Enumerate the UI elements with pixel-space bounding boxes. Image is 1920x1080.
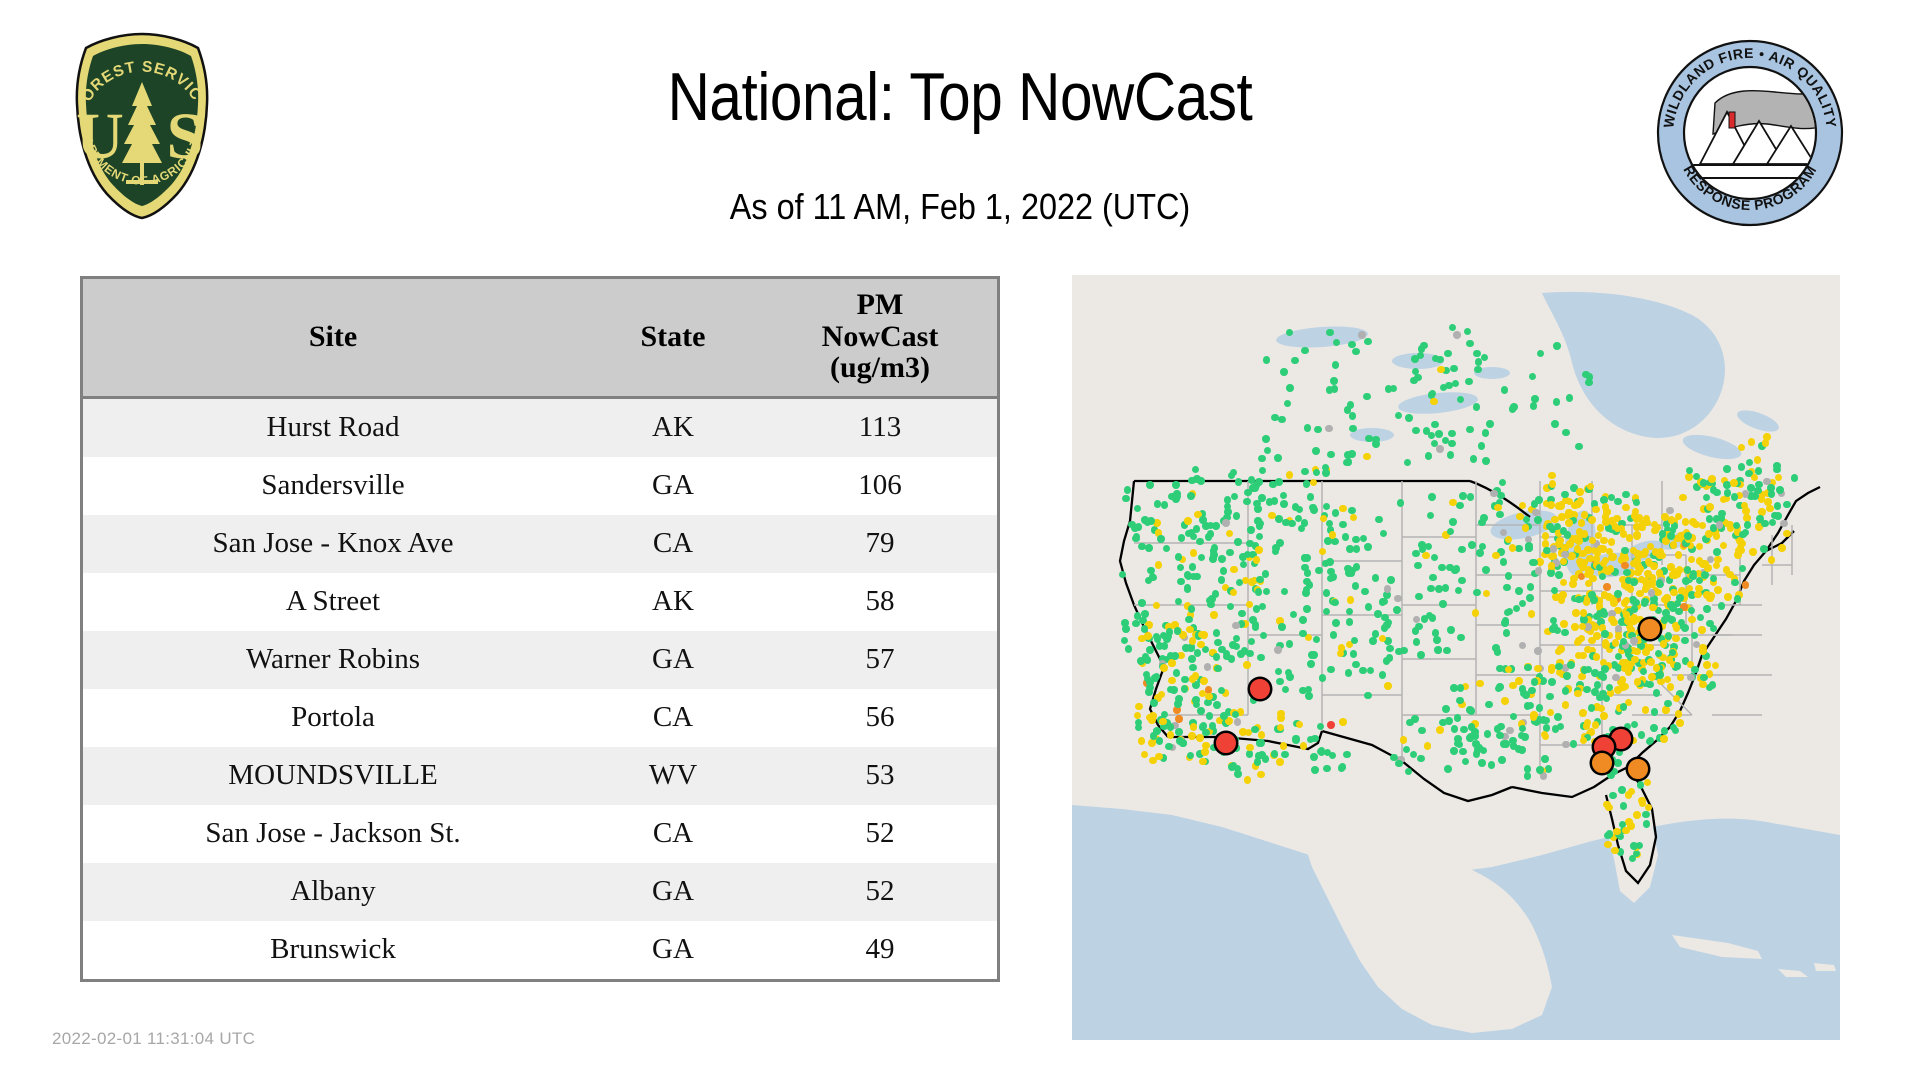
aqi-monitor-dot bbox=[1580, 609, 1588, 617]
aqi-monitor-dot bbox=[1246, 540, 1254, 548]
aqi-monitor-dot bbox=[1526, 594, 1534, 602]
aqi-monitor-dot bbox=[1209, 722, 1217, 730]
aqi-monitor-dot bbox=[1524, 664, 1532, 672]
aqi-monitor-dot bbox=[1332, 509, 1340, 517]
aqi-monitor-dot bbox=[1580, 737, 1588, 745]
aqi-monitor-dot bbox=[1168, 660, 1176, 668]
aqi-monitor-dot bbox=[1497, 723, 1505, 731]
aqi-monitor-dot bbox=[1703, 605, 1711, 613]
aqi-monitor-dot bbox=[1555, 663, 1563, 671]
aqi-monitor-dot bbox=[1122, 495, 1130, 503]
aqi-monitor-dot bbox=[1239, 728, 1247, 736]
highlighted-site-marker[interactable] bbox=[1626, 757, 1650, 781]
aqi-monitor-dot bbox=[1433, 636, 1441, 644]
aqi-monitor-dot bbox=[1308, 651, 1316, 659]
aqi-monitor-dot bbox=[1251, 726, 1259, 734]
table-row: A StreetAK58 bbox=[83, 573, 997, 631]
aqi-monitor-dot bbox=[1174, 627, 1182, 635]
cell-value: 58 bbox=[763, 573, 997, 631]
aqi-monitor-dot bbox=[1428, 493, 1436, 501]
aqi-monitor-dot bbox=[1172, 481, 1180, 489]
aqi-monitor-dot bbox=[1395, 648, 1403, 656]
aqi-monitor-dot bbox=[1708, 475, 1716, 483]
aqi-monitor-dot bbox=[1363, 393, 1371, 401]
aqi-monitor-dot bbox=[1541, 755, 1549, 763]
aqi-monitor-dot bbox=[1211, 544, 1219, 552]
aqi-monitor-dot bbox=[1609, 792, 1617, 800]
aqi-monitor-dot bbox=[1774, 512, 1782, 520]
aqi-monitor-dot bbox=[1345, 669, 1353, 677]
aqi-monitor-dot bbox=[1209, 555, 1217, 563]
aqi-monitor-dot bbox=[1347, 596, 1355, 604]
aqi-monitor-dot bbox=[1540, 716, 1548, 724]
aqi-monitor-dot bbox=[1731, 493, 1739, 501]
aqi-monitor-dot bbox=[1146, 714, 1154, 722]
aqi-monitor-dot bbox=[1482, 429, 1490, 437]
aqi-monitor-dot bbox=[1519, 642, 1527, 650]
table-row: BrunswickGA49 bbox=[83, 921, 997, 979]
aqi-monitor-dot bbox=[1763, 433, 1771, 441]
aqi-monitor-dot bbox=[1454, 714, 1462, 722]
aqi-monitor-dot bbox=[1189, 563, 1197, 571]
cell-value: 52 bbox=[763, 863, 997, 921]
aqi-monitor-dot bbox=[1436, 726, 1444, 734]
aqi-monitor-dot bbox=[1145, 544, 1153, 552]
aqi-monitor-dot bbox=[1551, 623, 1559, 631]
aqi-monitor-dot bbox=[1556, 537, 1564, 545]
aqi-monitor-dot bbox=[1330, 631, 1338, 639]
aqi-monitor-dot bbox=[1476, 549, 1484, 557]
aqi-monitor-dot bbox=[1395, 760, 1403, 768]
aqi-monitor-dot bbox=[1444, 765, 1452, 773]
aqi-monitor-dot bbox=[1146, 646, 1154, 654]
aqi-monitor-dot bbox=[1535, 567, 1543, 575]
aqi-monitor-dot bbox=[1742, 581, 1750, 589]
cell-state: GA bbox=[583, 863, 763, 921]
aqi-monitor-dot bbox=[1175, 728, 1183, 736]
aqi-monitor-dot bbox=[1164, 633, 1172, 641]
aqi-monitor-dot bbox=[1592, 506, 1600, 514]
cell-state: GA bbox=[583, 457, 763, 515]
aqi-monitor-dot bbox=[1509, 544, 1517, 552]
cell-value: 57 bbox=[763, 631, 997, 689]
aqi-monitor-dot bbox=[1656, 579, 1664, 587]
aqi-monitor-dot bbox=[1669, 571, 1677, 579]
aqi-monitor-dot bbox=[1435, 646, 1443, 654]
aqi-monitor-dot bbox=[1138, 737, 1146, 745]
table-body: Hurst RoadAK113SandersvilleGA106San Jose… bbox=[83, 397, 997, 979]
aqi-monitor-dot bbox=[1601, 665, 1609, 673]
aqi-monitor-dot bbox=[1614, 498, 1622, 506]
aqi-monitor-dot bbox=[1190, 723, 1198, 731]
top-nowcast-table: Site State PM NowCast (ug/m3) Hurst Road… bbox=[80, 276, 1000, 982]
aqi-monitor-dot bbox=[1352, 536, 1360, 544]
aqi-monitor-dot bbox=[1536, 766, 1544, 774]
aqi-monitor-dot bbox=[1699, 644, 1707, 652]
aqi-monitor-dot bbox=[1165, 743, 1173, 751]
aqi-monitor-dot bbox=[1387, 576, 1395, 584]
aqi-monitor-dot bbox=[1736, 537, 1744, 545]
aqi-monitor-dot bbox=[1415, 593, 1423, 601]
aqi-monitor-dot bbox=[1536, 704, 1544, 712]
aqi-monitor-dot bbox=[1561, 629, 1569, 637]
aqi-monitor-dot bbox=[1233, 512, 1241, 520]
aqi-monitor-dot bbox=[1271, 750, 1279, 758]
aqi-monitor-dot bbox=[1623, 569, 1631, 577]
aqi-monitor-dot bbox=[1605, 804, 1613, 812]
aqi-monitor-dot bbox=[1474, 366, 1482, 374]
aqi-monitor-dot bbox=[1450, 747, 1458, 755]
aqi-monitor-dot bbox=[1276, 758, 1284, 766]
column-header-state: State bbox=[583, 279, 763, 397]
aqi-monitor-dot bbox=[1497, 492, 1505, 500]
aqi-monitor-dot bbox=[1575, 443, 1583, 451]
table-row: AlbanyGA52 bbox=[83, 863, 997, 921]
aqi-monitor-dot bbox=[1614, 590, 1622, 598]
aqi-monitor-dot bbox=[1488, 761, 1496, 769]
aqi-monitor-dot bbox=[1141, 516, 1149, 524]
aqi-monitor-dot bbox=[1167, 723, 1175, 731]
aqi-monitor-dot bbox=[1406, 719, 1414, 727]
aqi-monitor-dot bbox=[1496, 665, 1504, 673]
aqi-monitor-dot bbox=[1534, 516, 1542, 524]
aqi-monitor-dot bbox=[1155, 561, 1163, 569]
aqi-monitor-dot bbox=[1178, 534, 1186, 542]
aqi-monitor-dot bbox=[1620, 802, 1628, 810]
aqi-monitor-dot bbox=[1278, 416, 1286, 424]
aqi-monitor-dot bbox=[1718, 602, 1726, 610]
aqi-monitor-dot bbox=[1137, 657, 1145, 665]
aqi-monitor-dot bbox=[1744, 521, 1752, 529]
aqi-monitor-dot bbox=[1496, 511, 1504, 519]
aqi-monitor-dot bbox=[1207, 530, 1215, 538]
aqi-monitor-dot bbox=[1630, 637, 1638, 645]
aqi-monitor-dot bbox=[1685, 473, 1693, 481]
aqi-monitor-dot bbox=[1586, 373, 1594, 381]
aqi-monitor-dot bbox=[1218, 555, 1226, 563]
aqi-monitor-dot bbox=[1322, 464, 1330, 472]
aqi-monitor-dot bbox=[1518, 732, 1526, 740]
aqi-monitor-dot bbox=[1574, 500, 1582, 508]
aqi-monitor-dot bbox=[1255, 478, 1263, 486]
aqi-monitor-dot bbox=[1246, 650, 1254, 658]
aqi-monitor-dot bbox=[1343, 751, 1351, 759]
aqi-monitor-dot bbox=[1381, 624, 1389, 632]
aqi-monitor-dot bbox=[1723, 566, 1731, 574]
page-title: National: Top NowCast bbox=[134, 58, 1785, 136]
aqi-monitor-dot bbox=[1547, 501, 1555, 509]
aqi-monitor-dot bbox=[1174, 700, 1182, 708]
aqi-monitor-dot bbox=[1672, 635, 1680, 643]
aqi-monitor-dot bbox=[1638, 731, 1646, 739]
cell-state: WV bbox=[583, 747, 763, 805]
aqi-monitor-dot bbox=[1186, 626, 1194, 634]
aqi-monitor-dot bbox=[1565, 519, 1573, 527]
aqi-monitor-dot bbox=[1327, 721, 1335, 729]
cell-value: 79 bbox=[763, 515, 997, 573]
aqi-monitor-dot bbox=[1502, 617, 1510, 625]
aqi-monitor-dot bbox=[1375, 516, 1383, 524]
aqi-monitor-dot bbox=[1385, 385, 1393, 393]
highlighted-site-marker[interactable] bbox=[1214, 731, 1238, 755]
aqi-monitor-dot bbox=[1438, 564, 1446, 572]
highlighted-site-marker[interactable] bbox=[1638, 617, 1662, 641]
aqi-monitor-dot bbox=[1532, 509, 1540, 517]
aqi-monitor-dot bbox=[1574, 690, 1582, 698]
aqi-monitor-dot bbox=[1346, 608, 1354, 616]
highlighted-site-marker[interactable] bbox=[1248, 677, 1272, 701]
aqi-monitor-dot bbox=[1160, 664, 1168, 672]
aqi-monitor-dot bbox=[1263, 356, 1271, 364]
aqi-monitor-dot bbox=[1232, 622, 1240, 630]
aqi-monitor-dot bbox=[1255, 546, 1263, 554]
aqi-monitor-dot bbox=[1300, 742, 1308, 750]
aqi-monitor-dot bbox=[1570, 575, 1578, 583]
aqi-monitor-dot bbox=[1243, 661, 1251, 669]
aqi-monitor-dot bbox=[1235, 478, 1243, 486]
aqi-monitor-dot bbox=[1560, 620, 1568, 628]
aqi-monitor-dot bbox=[1359, 667, 1367, 675]
aqi-monitor-dot bbox=[1656, 671, 1664, 679]
aqi-monitor-dot bbox=[1446, 564, 1454, 572]
aqi-monitor-dot bbox=[1223, 653, 1231, 661]
aqi-monitor-dot bbox=[1579, 709, 1587, 717]
aqi-monitor-dot bbox=[1667, 601, 1675, 609]
aqi-monitor-dot bbox=[1650, 724, 1658, 732]
aqi-monitor-dot bbox=[1661, 727, 1669, 735]
aqi-monitor-dot bbox=[1197, 707, 1205, 715]
aqi-monitor-dot bbox=[1618, 786, 1626, 794]
aqi-monitor-dot bbox=[1323, 589, 1331, 597]
aqi-monitor-dot bbox=[1456, 697, 1464, 705]
aqi-monitor-dot bbox=[1524, 765, 1532, 773]
aqi-monitor-dot bbox=[1135, 523, 1143, 531]
aqi-monitor-dot bbox=[1256, 576, 1264, 584]
aqi-monitor-dot bbox=[1706, 503, 1714, 511]
aqi-monitor-dot bbox=[1468, 541, 1476, 549]
aqi-monitor-dot bbox=[1427, 585, 1435, 593]
aqi-monitor-dot bbox=[1138, 635, 1146, 643]
aqi-monitor-dot bbox=[1153, 633, 1161, 641]
aqi-monitor-dot bbox=[1304, 569, 1312, 577]
aqi-monitor-dot bbox=[1457, 684, 1465, 692]
aqi-monitor-dot bbox=[1608, 538, 1616, 546]
aqi-monitor-dot bbox=[1253, 556, 1261, 564]
aqi-monitor-dot bbox=[1299, 616, 1307, 624]
aqi-monitor-dot bbox=[1331, 538, 1339, 546]
aqi-monitor-dot bbox=[1561, 551, 1569, 559]
pm-line-1: PM bbox=[857, 288, 904, 321]
aqi-monitor-dot bbox=[1125, 645, 1133, 653]
aqi-monitor-dot bbox=[1675, 710, 1683, 718]
aqi-monitor-dot bbox=[1429, 574, 1437, 582]
aqi-monitor-dot bbox=[1500, 558, 1508, 566]
aqi-monitor-dot bbox=[1676, 719, 1684, 727]
aqi-monitor-dot bbox=[1344, 565, 1352, 573]
aqi-monitor-dot bbox=[1364, 692, 1372, 700]
aqi-monitor-dot bbox=[1330, 377, 1338, 385]
aqi-monitor-dot bbox=[1331, 385, 1339, 393]
aqi-monitor-dot bbox=[1602, 641, 1610, 649]
aqi-monitor-dot bbox=[1331, 599, 1339, 607]
aqi-monitor-dot bbox=[1190, 549, 1198, 557]
aqi-monitor-dot bbox=[1189, 664, 1197, 672]
aqi-monitor-dot bbox=[1181, 676, 1189, 684]
aqi-monitor-dot bbox=[1135, 703, 1143, 711]
aqi-monitor-dot bbox=[1478, 759, 1486, 767]
cell-value: 113 bbox=[763, 397, 997, 457]
aqi-monitor-dot bbox=[1451, 725, 1459, 733]
aqi-monitor-dot bbox=[1189, 637, 1197, 645]
aqi-monitor-dot bbox=[1492, 552, 1500, 560]
aqi-monitor-dot bbox=[1524, 772, 1532, 780]
aqi-monitor-dot bbox=[1588, 704, 1596, 712]
aqi-monitor-dot bbox=[1760, 545, 1768, 553]
cell-site: Warner Robins bbox=[83, 631, 583, 689]
aqi-monitor-dot bbox=[1710, 486, 1718, 494]
pm-line-3: (ug/m3) bbox=[830, 351, 930, 384]
aqi-monitor-dot bbox=[1639, 520, 1647, 528]
aqi-monitor-dot bbox=[1754, 456, 1762, 464]
aqi-monitor-dot bbox=[1486, 420, 1494, 428]
aqi-monitor-dot bbox=[1648, 673, 1656, 681]
aqi-monitor-dot bbox=[1412, 427, 1420, 435]
aqi-monitor-dot bbox=[1286, 673, 1294, 681]
aqi-monitor-dot bbox=[1286, 471, 1294, 479]
aqi-monitor-dot bbox=[1187, 492, 1195, 500]
aqi-monitor-dot bbox=[1684, 532, 1692, 540]
aqi-monitor-dot bbox=[1571, 623, 1579, 631]
aqi-monitor-dot bbox=[1338, 764, 1346, 772]
highlighted-site-marker[interactable] bbox=[1590, 751, 1614, 775]
aqi-monitor-dot bbox=[1747, 484, 1755, 492]
aqi-monitor-dot bbox=[1700, 674, 1708, 682]
aqi-monitor-dot bbox=[1593, 632, 1601, 640]
aqi-monitor-dot bbox=[1591, 688, 1599, 696]
aqi-monitor-dot bbox=[1199, 758, 1207, 766]
aqi-monitor-dot bbox=[1212, 522, 1220, 530]
aqi-monitor-dot bbox=[1756, 515, 1764, 523]
aqi-monitor-dot bbox=[1466, 340, 1474, 348]
aqi-monitor-dot bbox=[1439, 600, 1447, 608]
aqi-monitor-dot bbox=[1442, 584, 1450, 592]
aqi-monitor-dot bbox=[1624, 617, 1632, 625]
aqi-monitor-dot bbox=[1329, 573, 1337, 581]
aqi-monitor-dot bbox=[1776, 486, 1784, 494]
aqi-monitor-dot bbox=[1730, 479, 1738, 487]
aqi-monitor-dot bbox=[1421, 615, 1429, 623]
aqi-monitor-dot bbox=[1703, 661, 1711, 669]
aqi-monitor-dot bbox=[1608, 517, 1616, 525]
aqi-monitor-dot bbox=[1739, 531, 1747, 539]
aqi-monitor-dot bbox=[1364, 543, 1372, 551]
aqi-monitor-dot bbox=[1156, 737, 1164, 745]
aqi-monitor-dot bbox=[1436, 445, 1444, 453]
aqi-monitor-dot bbox=[1247, 526, 1255, 534]
aqi-monitor-dot bbox=[1660, 735, 1668, 743]
aqi-monitor-dot bbox=[1768, 490, 1776, 498]
aqi-monitor-dot bbox=[1346, 618, 1354, 626]
cell-state: AK bbox=[583, 397, 763, 457]
aqi-monitor-dot bbox=[1513, 605, 1521, 613]
aqi-monitor-dot bbox=[1176, 737, 1184, 745]
aqi-monitor-dot bbox=[1783, 530, 1791, 538]
aqi-monitor-dot bbox=[1386, 654, 1394, 662]
aqi-monitor-dot bbox=[1706, 515, 1714, 523]
aqi-monitor-dot bbox=[1689, 518, 1697, 526]
aqi-monitor-dot bbox=[1244, 776, 1252, 784]
aqi-monitor-dot bbox=[1274, 454, 1282, 462]
aqi-monitor-dot bbox=[1238, 610, 1246, 618]
aqi-monitor-dot bbox=[1194, 649, 1202, 657]
aqi-monitor-dot bbox=[1691, 666, 1699, 674]
aqi-monitor-dot bbox=[1161, 501, 1169, 509]
aqi-monitor-dot bbox=[1400, 736, 1408, 744]
aqi-monitor-dot bbox=[1734, 595, 1742, 603]
aqi-monitor-dot bbox=[1634, 678, 1642, 686]
aqi-monitor-dot bbox=[1667, 532, 1675, 540]
aqi-monitor-dot bbox=[1566, 394, 1574, 402]
aqi-monitor-dot bbox=[1576, 528, 1584, 536]
aqi-monitor-dot bbox=[1714, 586, 1722, 594]
aqi-monitor-dot bbox=[1592, 721, 1600, 729]
aqi-monitor-dot bbox=[1208, 595, 1216, 603]
aqi-monitor-dot bbox=[1659, 530, 1667, 538]
aqi-monitor-dot bbox=[1643, 820, 1651, 828]
aqi-monitor-dot bbox=[1448, 430, 1456, 438]
aqi-monitor-dot bbox=[1498, 756, 1506, 764]
aqi-monitor-dot bbox=[1458, 577, 1466, 585]
aqi-monitor-dot bbox=[1576, 488, 1584, 496]
aqi-monitor-dot bbox=[1329, 531, 1337, 539]
aqi-monitor-dot bbox=[1304, 424, 1312, 432]
aqi-monitor-dot bbox=[1292, 736, 1300, 744]
aqi-monitor-dot bbox=[1168, 493, 1176, 501]
aqi-monitor-dot bbox=[1442, 705, 1450, 713]
aqi-monitor-dot bbox=[1774, 502, 1782, 510]
aqi-monitor-dot bbox=[1653, 689, 1661, 697]
cell-site: San Jose - Knox Ave bbox=[83, 515, 583, 573]
aqi-monitor-dot bbox=[1222, 519, 1230, 527]
cell-site: San Jose - Jackson St. bbox=[83, 805, 583, 863]
aqi-monitor-dot bbox=[1299, 630, 1307, 638]
table-row: SandersvilleGA106 bbox=[83, 457, 997, 515]
aqi-monitor-dot bbox=[1701, 571, 1709, 579]
aqi-monitor-dot bbox=[1437, 366, 1445, 374]
aqi-monitor-dot bbox=[1257, 654, 1265, 662]
aqi-monitor-dot bbox=[1157, 535, 1165, 543]
national-aqi-map[interactable]: Air Quality Index HazardousVery Unhealth… bbox=[1072, 275, 1840, 1040]
table-row: MOUNDSVILLEWV53 bbox=[83, 747, 997, 805]
aqi-monitor-dot bbox=[1257, 739, 1265, 747]
aqi-monitor-dot bbox=[1459, 748, 1467, 756]
cell-value: 106 bbox=[763, 457, 997, 515]
aqi-monitor-dot bbox=[1631, 605, 1639, 613]
aqi-monitor-dot bbox=[1609, 553, 1617, 561]
aqi-monitor-dot bbox=[1447, 451, 1455, 459]
aqi-monitor-dot bbox=[1303, 554, 1311, 562]
aqi-monitor-dot bbox=[1591, 669, 1599, 677]
aqi-monitor-dot bbox=[1602, 503, 1610, 511]
aqi-monitor-dot bbox=[1311, 735, 1319, 743]
aqi-monitor-dot bbox=[1246, 750, 1254, 758]
aqi-monitor-dot bbox=[1674, 662, 1682, 670]
cell-site: Brunswick bbox=[83, 921, 583, 979]
aqi-monitor-dot bbox=[1626, 534, 1634, 542]
aqi-monitor-dot bbox=[1676, 566, 1684, 574]
aqi-monitor-dot bbox=[1466, 426, 1474, 434]
aqi-monitor-dot bbox=[1188, 732, 1196, 740]
